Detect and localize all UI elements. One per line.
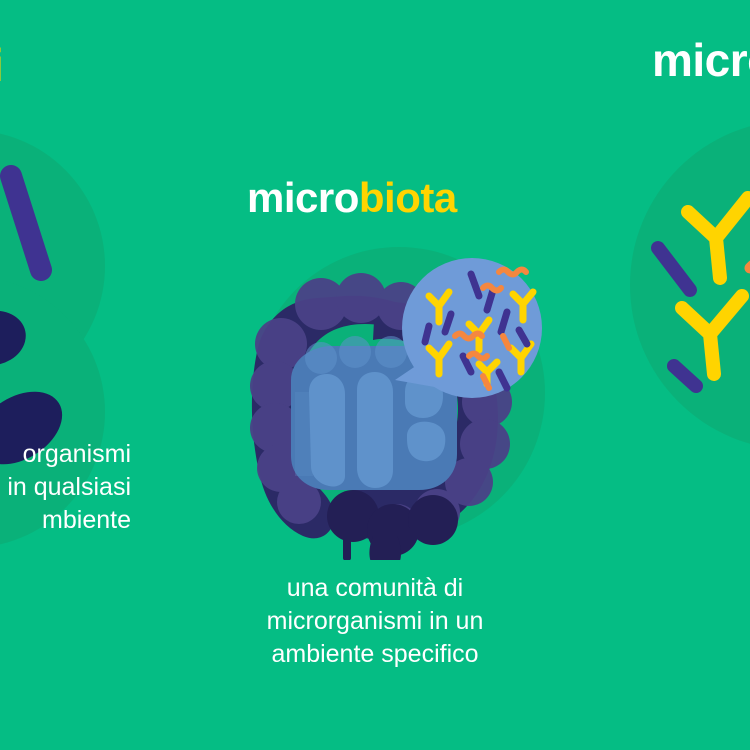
caption-line: microrganismi in un — [215, 605, 535, 638]
panel-microbiota: microbiota una comunità di microrganismi… — [215, 0, 535, 750]
caption-line: ambiente specifico — [215, 638, 535, 671]
panel-title-left: ganismi — [0, 42, 3, 88]
magnifier-bubble — [367, 252, 545, 452]
microbiome-art — [630, 120, 750, 450]
caption-line: mbiente — [0, 504, 131, 537]
caption-line: e il loro ruo — [590, 476, 750, 509]
caption-line: ambientali e — [590, 575, 750, 608]
caption-line: di un ambie — [590, 509, 750, 542]
caption-line: reci — [590, 608, 750, 641]
panel-microrganismi: ganismi organismi in qualsiasi mbiente — [0, 0, 145, 750]
panel-title-right: micro — [652, 37, 750, 83]
panel-caption-left: organismi in qualsiasi mbiente — [0, 438, 131, 537]
caption-line: organismi — [0, 438, 131, 471]
panel-microbioma: micro una comunità e il loro ruo di un a… — [590, 0, 750, 750]
caption-line: una comunità — [590, 443, 750, 476]
title-suffix: biota — [359, 174, 457, 221]
caption-line: una comunità di — [215, 572, 535, 605]
infographic-canvas: ganismi organismi in qualsiasi mbiente — [0, 0, 750, 750]
microbiome-circle — [630, 120, 750, 450]
caption-line: in qualsiasi — [0, 471, 131, 504]
title-prefix: micro — [247, 174, 359, 221]
panel-title-center: microbiota — [247, 177, 457, 219]
panel-caption-right: una comunità e il loro ruo di un ambie c… — [590, 443, 750, 641]
caption-line: considerand — [590, 542, 750, 575]
panel-caption-center: una comunità di microrganismi in un ambi… — [215, 572, 535, 671]
rod-shapes — [658, 146, 750, 438]
